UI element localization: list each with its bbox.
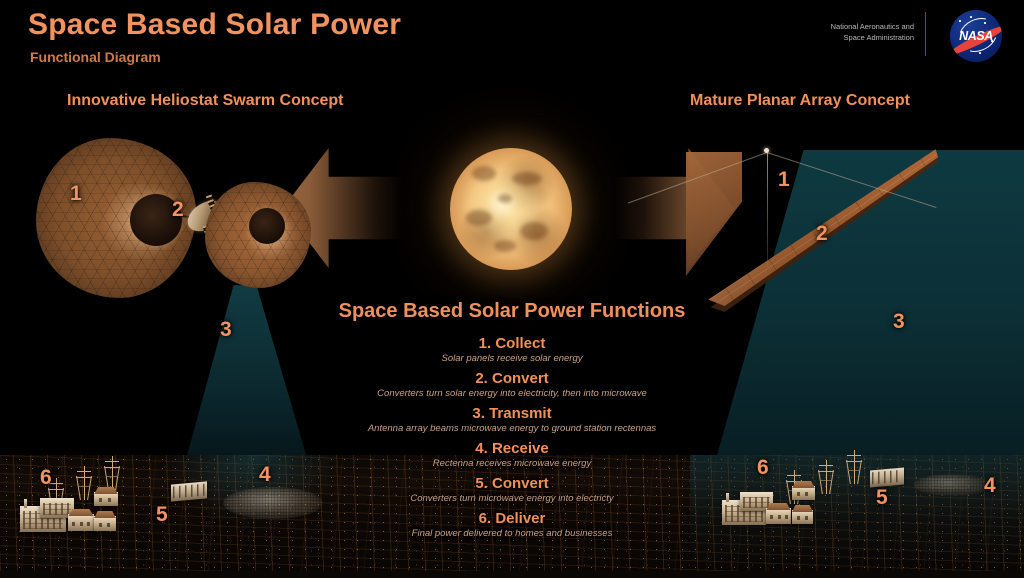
callout-ground-right-5: 5 bbox=[876, 486, 888, 510]
function-item-3: 3. Transmit Antenna array beams microwav… bbox=[0, 405, 1024, 434]
poster-canvas: Space Based Solar Power Functional Diagr… bbox=[0, 0, 1024, 578]
function-desc: Solar panels receive solar energy bbox=[0, 353, 1024, 364]
callout-ground-right-6: 6 bbox=[757, 456, 769, 480]
function-item-1: 1. Collect Solar panels receive solar en… bbox=[0, 335, 1024, 364]
page-subtitle: Functional Diagram bbox=[30, 49, 161, 65]
callout-ground-left-6: 6 bbox=[40, 466, 52, 490]
bottom-border bbox=[0, 571, 1024, 578]
callout-right-2: 2 bbox=[816, 222, 828, 246]
function-desc: Antenna array beams microwave energy to … bbox=[0, 423, 1024, 434]
nasa-logo-text: NASA bbox=[950, 29, 1002, 43]
function-head: 6. Deliver bbox=[0, 510, 1024, 527]
header-divider bbox=[925, 12, 926, 56]
page-title: Space Based Solar Power bbox=[28, 8, 401, 42]
callout-right-3: 3 bbox=[893, 310, 905, 334]
function-head: 5. Convert bbox=[0, 475, 1024, 492]
nasa-wordmark: National Aeronautics and Space Administr… bbox=[784, 22, 914, 44]
function-desc: Rectenna receives microwave energy bbox=[0, 458, 1024, 469]
function-desc: Converters turn solar energy into electr… bbox=[0, 388, 1024, 399]
function-desc: Final power delivered to homes and busin… bbox=[0, 528, 1024, 539]
callout-left-1: 1 bbox=[70, 182, 82, 206]
right-concept-heading: Mature Planar Array Concept bbox=[690, 92, 910, 110]
functions-title: Space Based Solar Power Functions bbox=[0, 300, 1024, 323]
callout-ground-left-4: 4 bbox=[259, 463, 271, 487]
agency-line-2: Space Administration bbox=[784, 33, 914, 44]
sun-illustration bbox=[450, 148, 572, 270]
callout-ground-left-5: 5 bbox=[156, 503, 168, 527]
function-head: 4. Receive bbox=[0, 440, 1024, 457]
left-concept-heading: Innovative Heliostat Swarm Concept bbox=[67, 92, 344, 110]
callout-ground-right-4: 4 bbox=[984, 474, 996, 498]
callout-left-3: 3 bbox=[220, 318, 232, 342]
function-head: 2. Convert bbox=[0, 370, 1024, 387]
function-item-2: 2. Convert Converters turn solar energy … bbox=[0, 370, 1024, 399]
function-item-5: 5. Convert Converters turn microwave ene… bbox=[0, 475, 1024, 504]
callout-left-2: 2 bbox=[172, 198, 184, 222]
function-head: 3. Transmit bbox=[0, 405, 1024, 422]
callout-right-1: 1 bbox=[778, 168, 790, 192]
function-item-6: 6. Deliver Final power delivered to home… bbox=[0, 510, 1024, 539]
function-desc: Converters turn microwave energy into el… bbox=[0, 493, 1024, 504]
array-mast-tip bbox=[764, 148, 769, 153]
function-head: 1. Collect bbox=[0, 335, 1024, 352]
nasa-meatball-icon: NASA bbox=[950, 10, 1002, 62]
array-mast bbox=[767, 152, 768, 270]
functions-panel: Space Based Solar Power Functions 1. Col… bbox=[0, 300, 1024, 545]
heliostat-hub-secondary bbox=[249, 208, 285, 244]
agency-line-1: National Aeronautics and bbox=[784, 22, 914, 33]
function-item-4: 4. Receive Rectenna receives microwave e… bbox=[0, 440, 1024, 469]
